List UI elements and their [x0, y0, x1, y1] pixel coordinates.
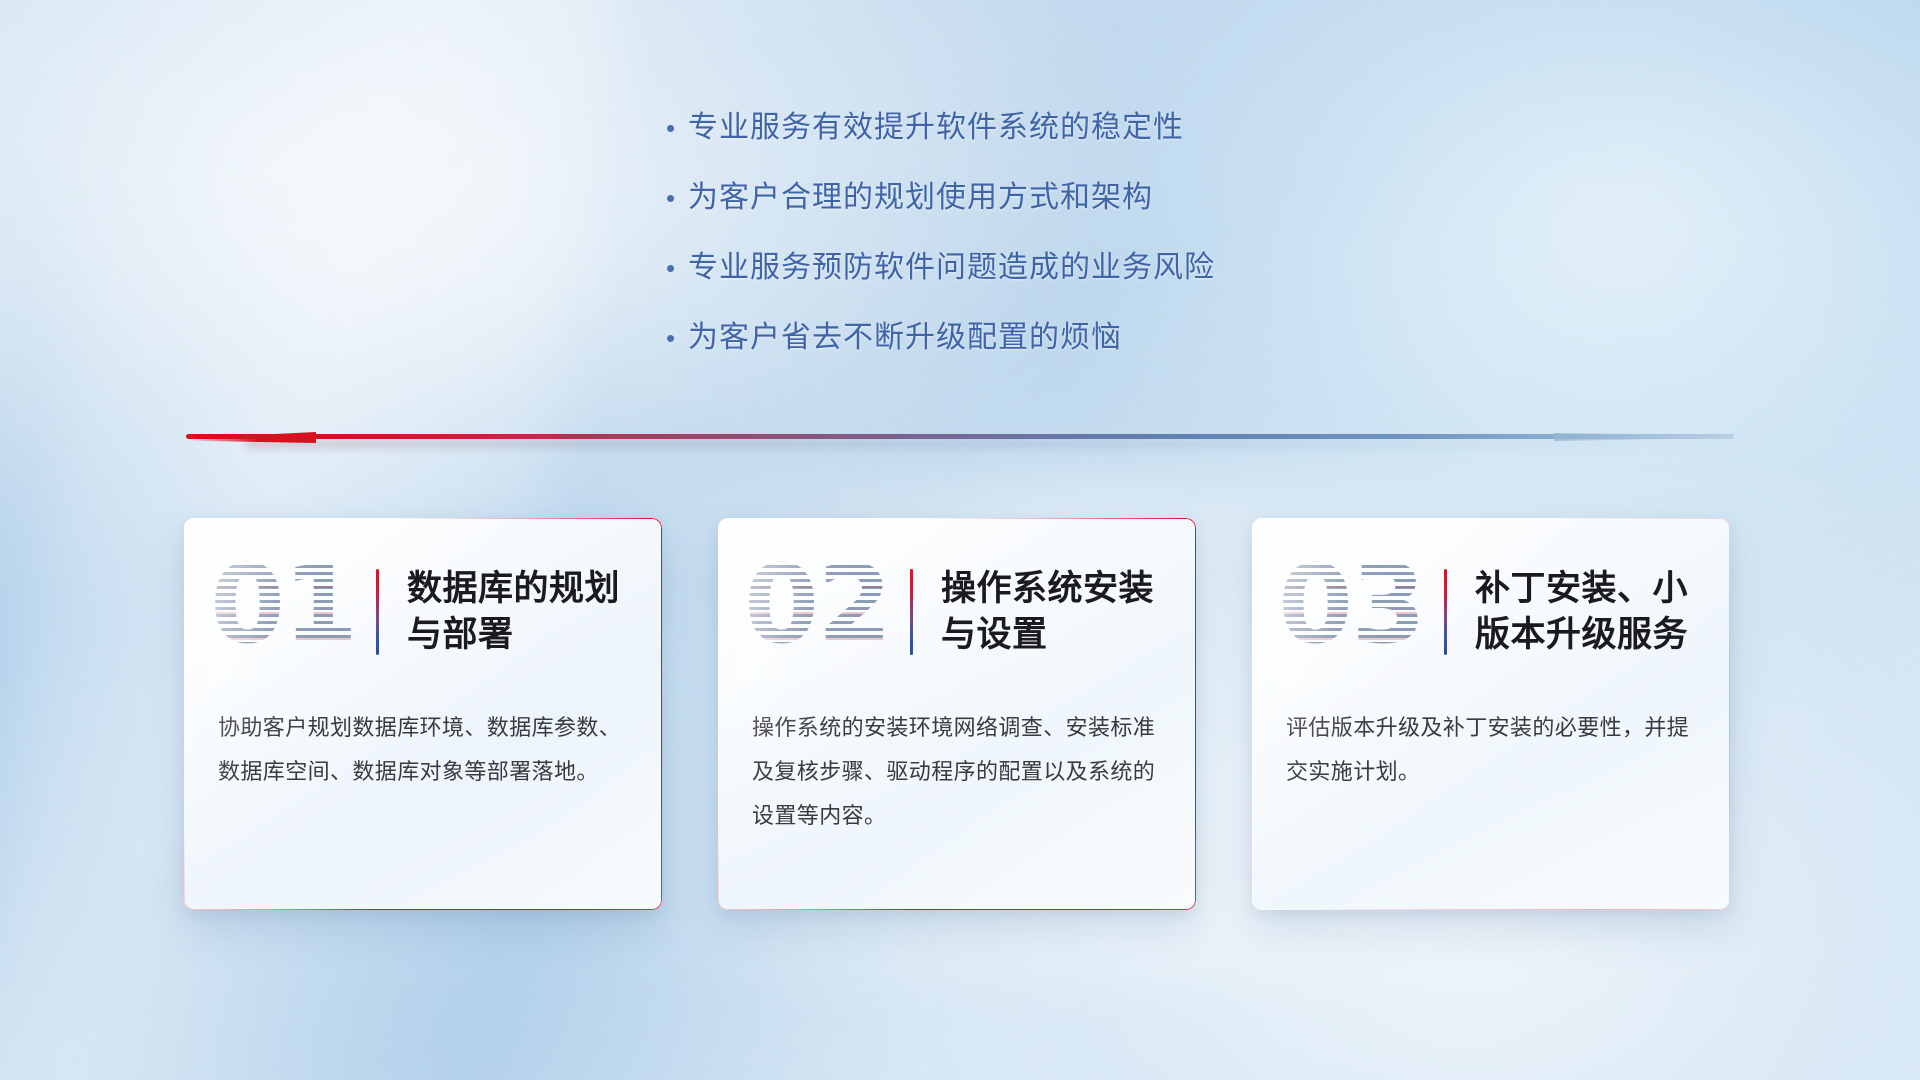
card-body-text: 协助客户规划数据库环境、数据库参数、数据库空间、数据库对象等部署落地。 [184, 706, 662, 794]
bullet-text: 为客户合理的规划使用方式和架构 [688, 178, 1153, 218]
service-card-01[interactable]: 01 01 数据库的规划与部署 协助客户规划数据库环境、数据库参数、数据库空间、… [184, 518, 662, 910]
card-title: 操作系统安装与设置 [941, 566, 1163, 658]
list-item: • 为客户省去不断升级配置的烦恼 [666, 318, 1466, 358]
divider-gradient-bar [186, 434, 1734, 439]
bullet-dot-icon: • [666, 178, 688, 218]
list-item: • 专业服务有效提升软件系统的稳定性 [666, 108, 1466, 148]
card-body-text: 评估版本升级及补丁安装的必要性，并提交实施计划。 [1252, 706, 1730, 794]
benefits-bullet-list: • 专业服务有效提升软件系统的稳定性 • 为客户合理的规划使用方式和架构 • 专… [666, 108, 1466, 388]
divider-shadow [246, 440, 1732, 448]
card-title-rule [910, 569, 913, 655]
card-number-text-overlay: 02 [744, 546, 890, 666]
bullet-dot-icon: • [666, 108, 688, 148]
bullet-dot-icon: • [666, 318, 688, 358]
card-title: 数据库的规划与部署 [407, 566, 629, 658]
section-divider [186, 432, 1734, 443]
service-card-02[interactable]: 02 02 操作系统安装与设置 操作系统的安装环境网络调查、安装标准及复核步骤、… [718, 518, 1196, 910]
service-card-03[interactable]: 03 03 补丁安装、小版本升级服务 评估版本升级及补丁安装的必要性，并提交实施… [1252, 518, 1730, 910]
card-title-rule [1444, 569, 1447, 655]
card-body-text: 操作系统的安装环境网络调查、安装标准及复核步骤、驱动程序的配置以及系统的设置等内… [718, 706, 1196, 838]
service-cards-row: 01 01 数据库的规划与部署 协助客户规划数据库环境、数据库参数、数据库空间、… [184, 518, 1730, 910]
list-item: • 专业服务预防软件问题造成的业务风险 [666, 248, 1466, 288]
card-title-rule [376, 569, 379, 655]
card-number-graphic: 03 03 [1278, 552, 1428, 672]
card-title: 补丁安装、小版本升级服务 [1475, 566, 1697, 658]
bullet-dot-icon: • [666, 248, 688, 288]
bullet-text: 专业服务有效提升软件系统的稳定性 [688, 108, 1184, 148]
card-number-graphic: 01 01 [210, 552, 360, 672]
card-header: 01 01 数据库的规划与部署 [184, 518, 662, 706]
list-item: • 为客户合理的规划使用方式和架构 [666, 178, 1466, 218]
bullet-text: 专业服务预防软件问题造成的业务风险 [688, 248, 1215, 288]
card-header: 03 03 补丁安装、小版本升级服务 [1252, 518, 1730, 706]
card-number-graphic: 02 02 [744, 552, 894, 672]
bullet-text: 为客户省去不断升级配置的烦恼 [688, 318, 1122, 358]
card-number-text-overlay: 01 [210, 546, 356, 666]
card-header: 02 02 操作系统安装与设置 [718, 518, 1196, 706]
card-number-text-overlay: 03 [1278, 546, 1424, 666]
